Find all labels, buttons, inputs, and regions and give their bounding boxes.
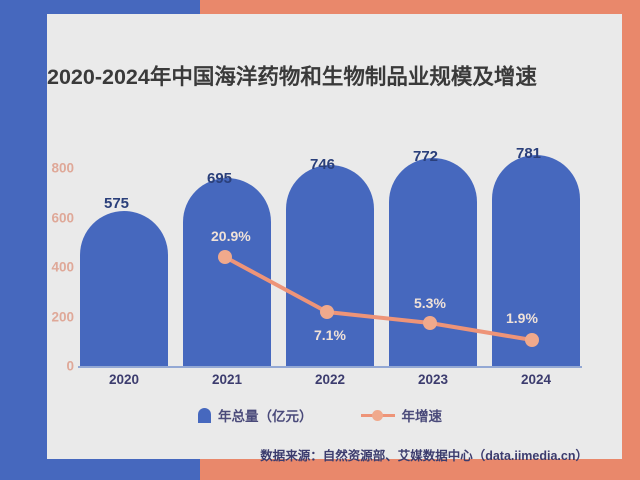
growth-label-2023: 5.3% bbox=[414, 295, 446, 311]
growth-label-2022: 7.1% bbox=[314, 327, 346, 343]
chart-infographic: 2020-2024年中国海洋药物和生物制品业规模及增速 800 600 400 … bbox=[0, 0, 640, 480]
bar-2024 bbox=[492, 155, 580, 366]
page-title: 2020-2024年中国海洋药物和生物制品业规模及增速 bbox=[47, 60, 607, 91]
y-tick-600: 600 bbox=[34, 211, 74, 226]
bar-value-2021: 695 bbox=[207, 170, 232, 187]
bar-2021 bbox=[183, 178, 271, 366]
source-note: 数据来源：自然资源部、艾媒数据中心（data.iimedia.cn） bbox=[0, 445, 610, 464]
bar-value-2020: 575 bbox=[104, 195, 129, 212]
bar-value-2023: 772 bbox=[413, 148, 438, 165]
y-tick-200: 200 bbox=[34, 310, 74, 325]
y-tick-800: 800 bbox=[34, 161, 74, 176]
bar-2020 bbox=[80, 211, 168, 366]
chart-legend: 年总量（亿元） 年增速 bbox=[0, 405, 640, 425]
x-axis-line bbox=[78, 366, 582, 368]
y-tick-0: 0 bbox=[34, 359, 74, 374]
legend-item-growth[interactable]: 年增速 bbox=[361, 405, 443, 425]
x-tick-2024: 2024 bbox=[492, 372, 580, 387]
growth-label-2021: 20.9% bbox=[211, 228, 251, 244]
bar-2023 bbox=[389, 158, 477, 366]
y-tick-400: 400 bbox=[34, 260, 74, 275]
x-tick-2020: 2020 bbox=[80, 372, 168, 387]
bar-column-2020 bbox=[80, 211, 168, 366]
bar-value-2024: 781 bbox=[516, 145, 541, 162]
legend-label-growth: 年增速 bbox=[402, 405, 443, 425]
x-tick-2023: 2023 bbox=[389, 372, 477, 387]
bar-swatch-icon bbox=[198, 408, 211, 423]
legend-item-total[interactable]: 年总量（亿元） bbox=[198, 405, 313, 425]
bar-value-2022: 746 bbox=[310, 156, 335, 173]
x-tick-2021: 2021 bbox=[183, 372, 271, 387]
legend-label-total: 年总量（亿元） bbox=[218, 405, 313, 425]
bar-column-2024 bbox=[492, 155, 580, 366]
growth-label-2024: 1.9% bbox=[506, 310, 538, 326]
x-tick-2022: 2022 bbox=[286, 372, 374, 387]
bar-column-2021 bbox=[183, 178, 271, 366]
bar-column-2023 bbox=[389, 158, 477, 366]
line-swatch-icon bbox=[361, 410, 395, 420]
